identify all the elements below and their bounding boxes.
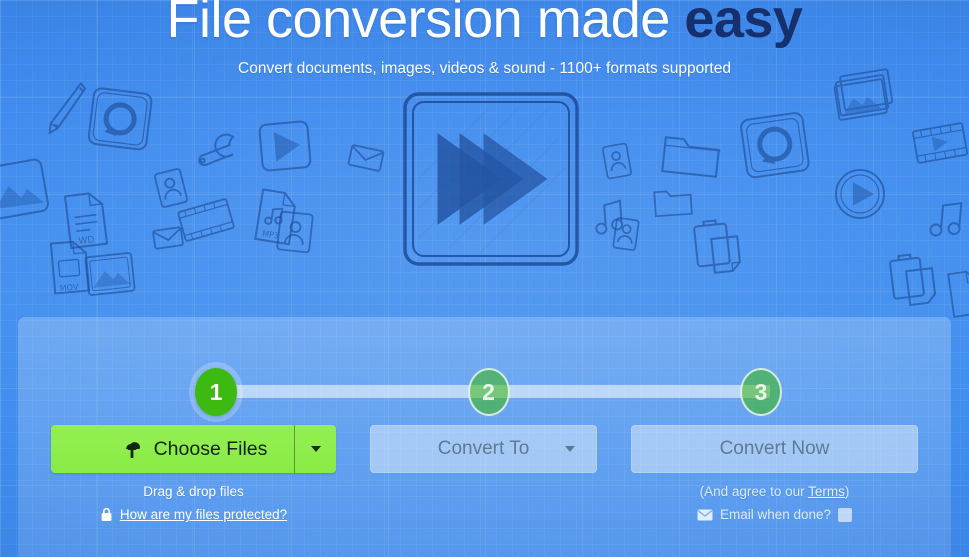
headline-main: File conversion made: [167, 0, 670, 49]
action-row: Choose Files Drag & drop files How are m…: [51, 425, 918, 522]
step-progress-indicator: 1 2 3: [189, 364, 788, 422]
pencil-icon: [35, 79, 96, 139]
image-frame-icon: [0, 155, 53, 223]
step-2[interactable]: 2: [462, 364, 516, 420]
convert-now-column: Convert Now (And agree to our Terms) Ema…: [631, 425, 918, 522]
mp3-file-icon: MP3: [249, 185, 305, 250]
hero-section: File conversion made easy Convert docume…: [0, 0, 969, 78]
terms-link[interactable]: Terms: [808, 484, 845, 499]
convert-to-button[interactable]: Convert To: [370, 425, 597, 473]
step-3[interactable]: 3: [734, 364, 788, 420]
contact-card-icon: [151, 165, 192, 212]
headline-accent: easy: [684, 0, 802, 49]
page-subtitle: Convert documents, images, videos & soun…: [0, 60, 969, 78]
film-strip-icon: [174, 193, 239, 247]
terms-suffix: ): [845, 484, 850, 499]
convert-to-column: Convert To: [370, 425, 597, 473]
step-1-active[interactable]: 1: [189, 364, 243, 420]
choose-files-button[interactable]: Choose Files: [51, 425, 336, 473]
caret-down-icon: [311, 446, 321, 452]
terms-prefix: (And agree to our: [700, 484, 809, 499]
page-title: File conversion made easy: [0, 0, 969, 48]
svg-text:MP3: MP3: [262, 229, 280, 241]
choose-files-label: Choose Files: [154, 438, 268, 461]
converter-hero-page: WD MOV MP3: [0, 0, 969, 557]
files-protected-link[interactable]: How are my files protected?: [51, 507, 336, 522]
word-file-icon: WD: [59, 187, 114, 252]
mov-file-icon: MOV: [46, 236, 97, 298]
convert-to-label: Convert To: [438, 438, 530, 460]
clipboard-icon: [885, 247, 949, 310]
lock-icon: [100, 507, 113, 522]
choose-files-dropdown-button[interactable]: [294, 425, 336, 473]
folder-icon: [651, 184, 695, 221]
email-when-done-checkbox[interactable]: [838, 508, 852, 522]
envelope-icon: [150, 224, 185, 252]
convert-now-label: Convert Now: [720, 438, 830, 460]
terms-notice: (And agree to our Terms): [631, 484, 918, 499]
files-protected-label: How are my files protected?: [120, 507, 287, 522]
contact-card-icon: [599, 140, 635, 183]
music-note-icon: [926, 194, 969, 241]
email-when-done-label: Email when done?: [720, 507, 831, 522]
play-circle-icon: [832, 166, 888, 222]
step-3-number: 3: [755, 381, 768, 404]
doc-file-icon: [943, 265, 969, 320]
folder-icon: [658, 129, 725, 183]
drag-drop-hint: Drag & drop files: [51, 484, 336, 499]
image-frame-icon: [82, 249, 138, 298]
film-strip-icon: [909, 117, 969, 168]
choose-files-column: Choose Files Drag & drop files How are m…: [51, 425, 336, 522]
wrench-icon: [189, 121, 248, 181]
step-1-number: 1: [210, 381, 223, 404]
clipboard-icon: [689, 213, 753, 277]
svg-text:MOV: MOV: [59, 282, 79, 293]
convert-now-button[interactable]: Convert Now: [631, 425, 918, 473]
converter-panel: 1 2 3: [18, 317, 951, 557]
music-note-icon: [591, 195, 630, 237]
refresh-image-icon: [736, 107, 817, 184]
fast-forward-icon: [399, 88, 583, 270]
cloud-upload-icon: [120, 438, 144, 460]
envelope-icon: [697, 509, 713, 521]
caret-down-icon: [565, 446, 575, 452]
contact-card-icon: [610, 214, 643, 254]
play-triangle-icon: [256, 118, 314, 175]
envelope-icon: [346, 142, 387, 175]
contact-card-icon: [274, 208, 316, 256]
email-when-done-row: Email when done?: [631, 507, 918, 522]
step-2-number: 2: [482, 381, 495, 404]
refresh-image-icon: [84, 84, 157, 156]
svg-text:WD: WD: [78, 235, 95, 247]
